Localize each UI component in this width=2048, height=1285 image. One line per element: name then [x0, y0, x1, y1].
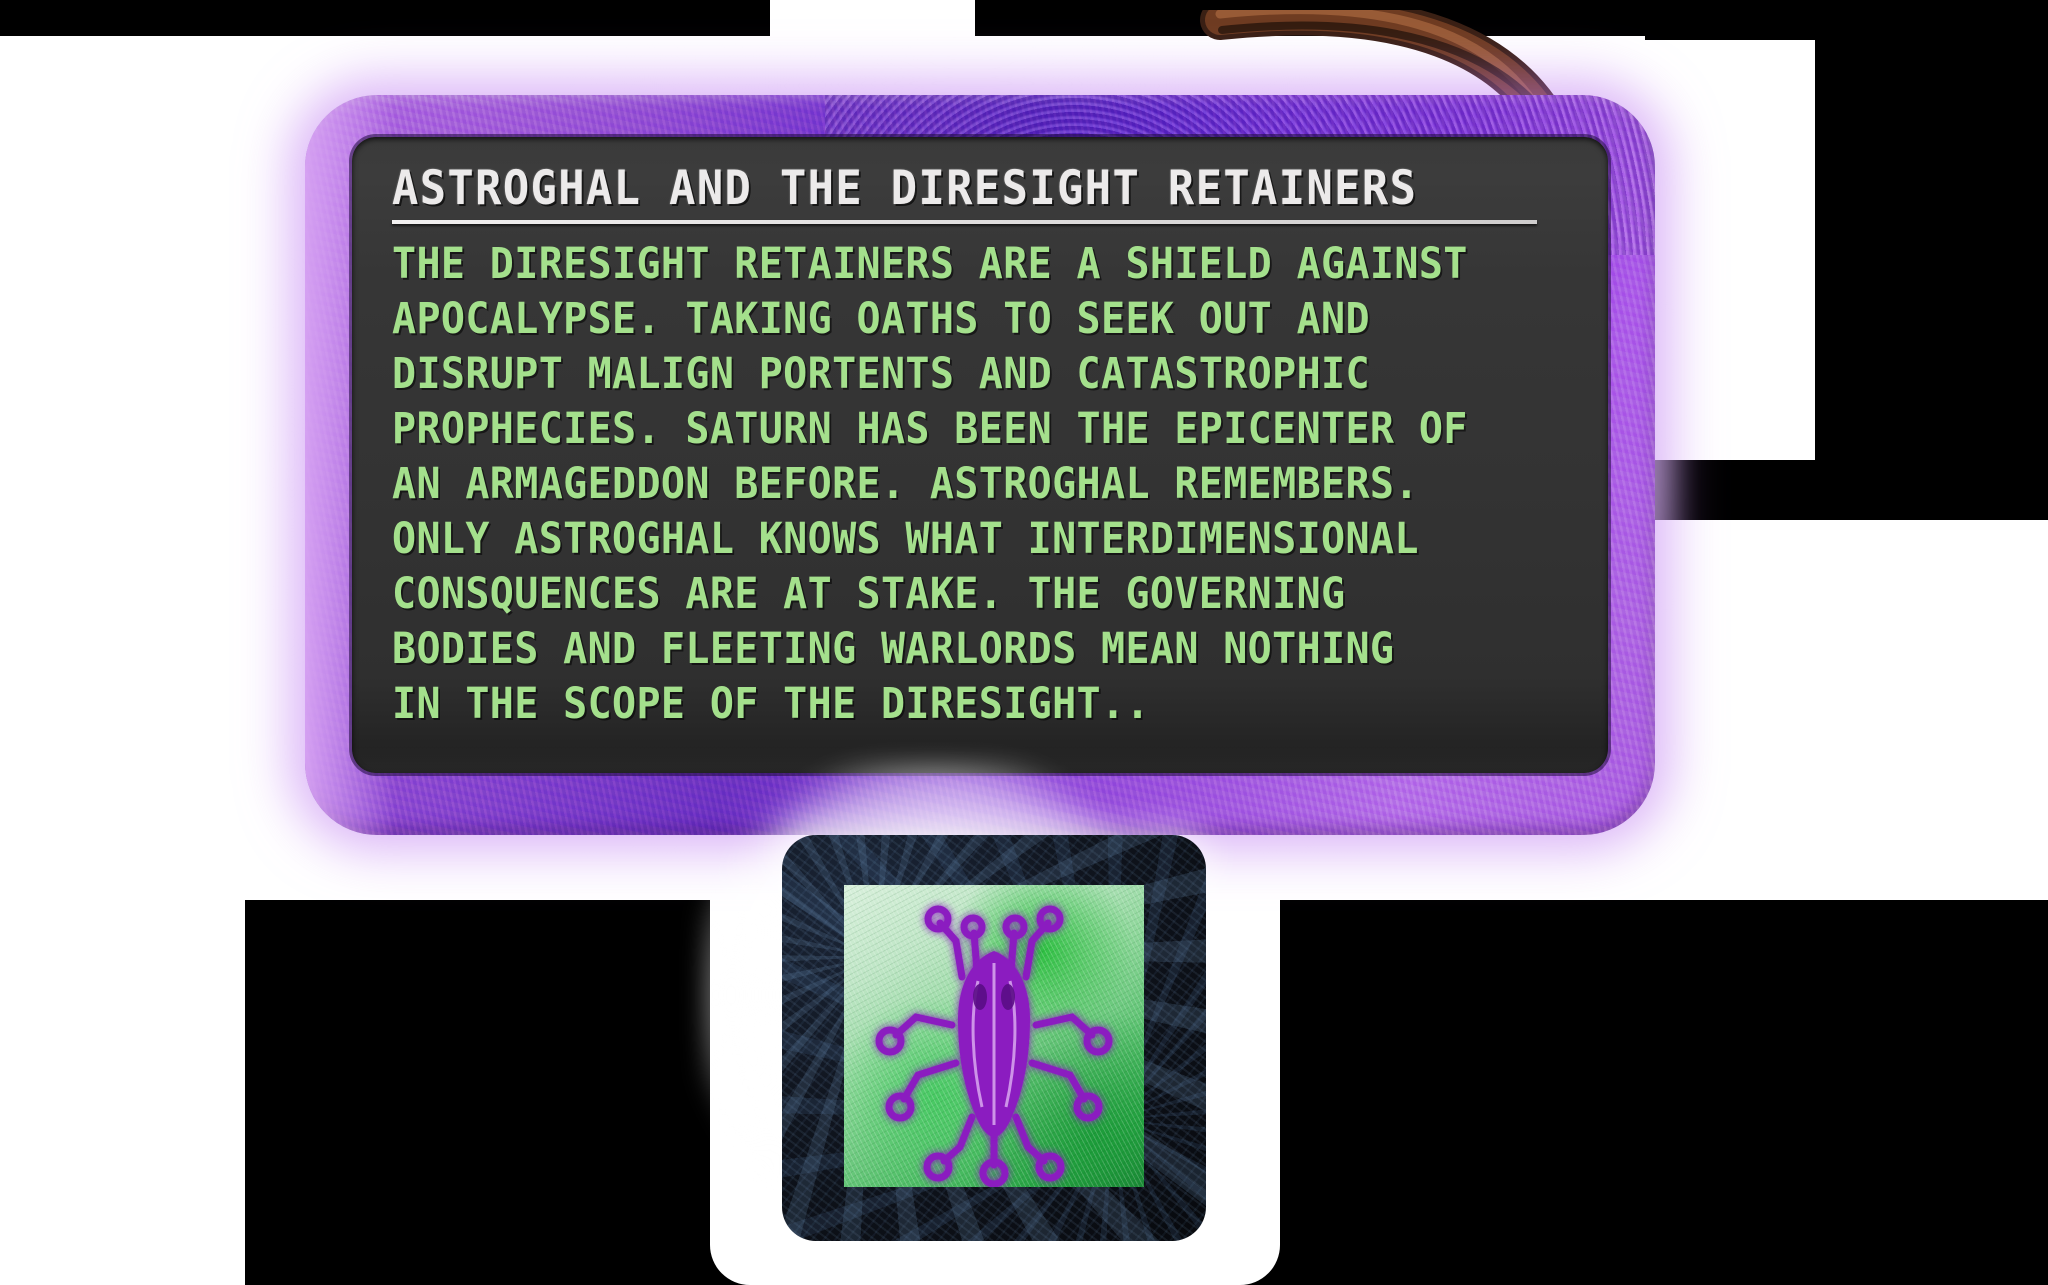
lore-screen-panel: ASTROGHAL AND THE DIRESIGHT RETAINERS TH…	[352, 137, 1608, 773]
body-line: DISRUPT MALIGN PORTENTS AND CATASTROPHIC	[392, 347, 1502, 402]
title-underline	[392, 220, 1537, 224]
body-line: ONLY ASTROGHAL KNOWS WHAT INTERDIMENSION…	[392, 512, 1502, 567]
emblem-inner-art	[844, 885, 1144, 1187]
body-line: BODIES AND FLEETING WARLORDS MEAN NOTHIN…	[392, 622, 1502, 677]
lore-card[interactable]: ASTROGHAL AND THE DIRESIGHT RETAINERS TH…	[305, 95, 1655, 835]
body-line: PROPHECIES. SATURN HAS BEEN THE EPICENTE…	[392, 402, 1502, 457]
body-line: APOCALYPSE. TAKING OATHS TO SEEK OUT AND	[392, 292, 1502, 347]
astroghal-circuit-sigil-icon	[844, 885, 1144, 1187]
card-body-text: THE DIRESIGHT RETAINERS ARE A SHIELD AGA…	[392, 237, 1586, 732]
body-line: AN ARMAGEDDON BEFORE. ASTROGHAL REMEMBER…	[392, 457, 1502, 512]
artifact-block-top-left	[0, 0, 770, 36]
card-title: ASTROGHAL AND THE DIRESIGHT RETAINERS	[392, 165, 1502, 214]
faction-emblem-tile[interactable]	[782, 835, 1206, 1241]
artifact-block-bottom-left	[0, 900, 245, 1285]
body-line: CONSQUENCES ARE AT STAKE. THE GOVERNING	[392, 567, 1502, 622]
body-line: THE DIRESIGHT RETAINERS ARE A SHIELD AGA…	[392, 237, 1502, 292]
body-line: IN THE SCOPE OF THE DIRESIGHT..	[392, 677, 1502, 732]
